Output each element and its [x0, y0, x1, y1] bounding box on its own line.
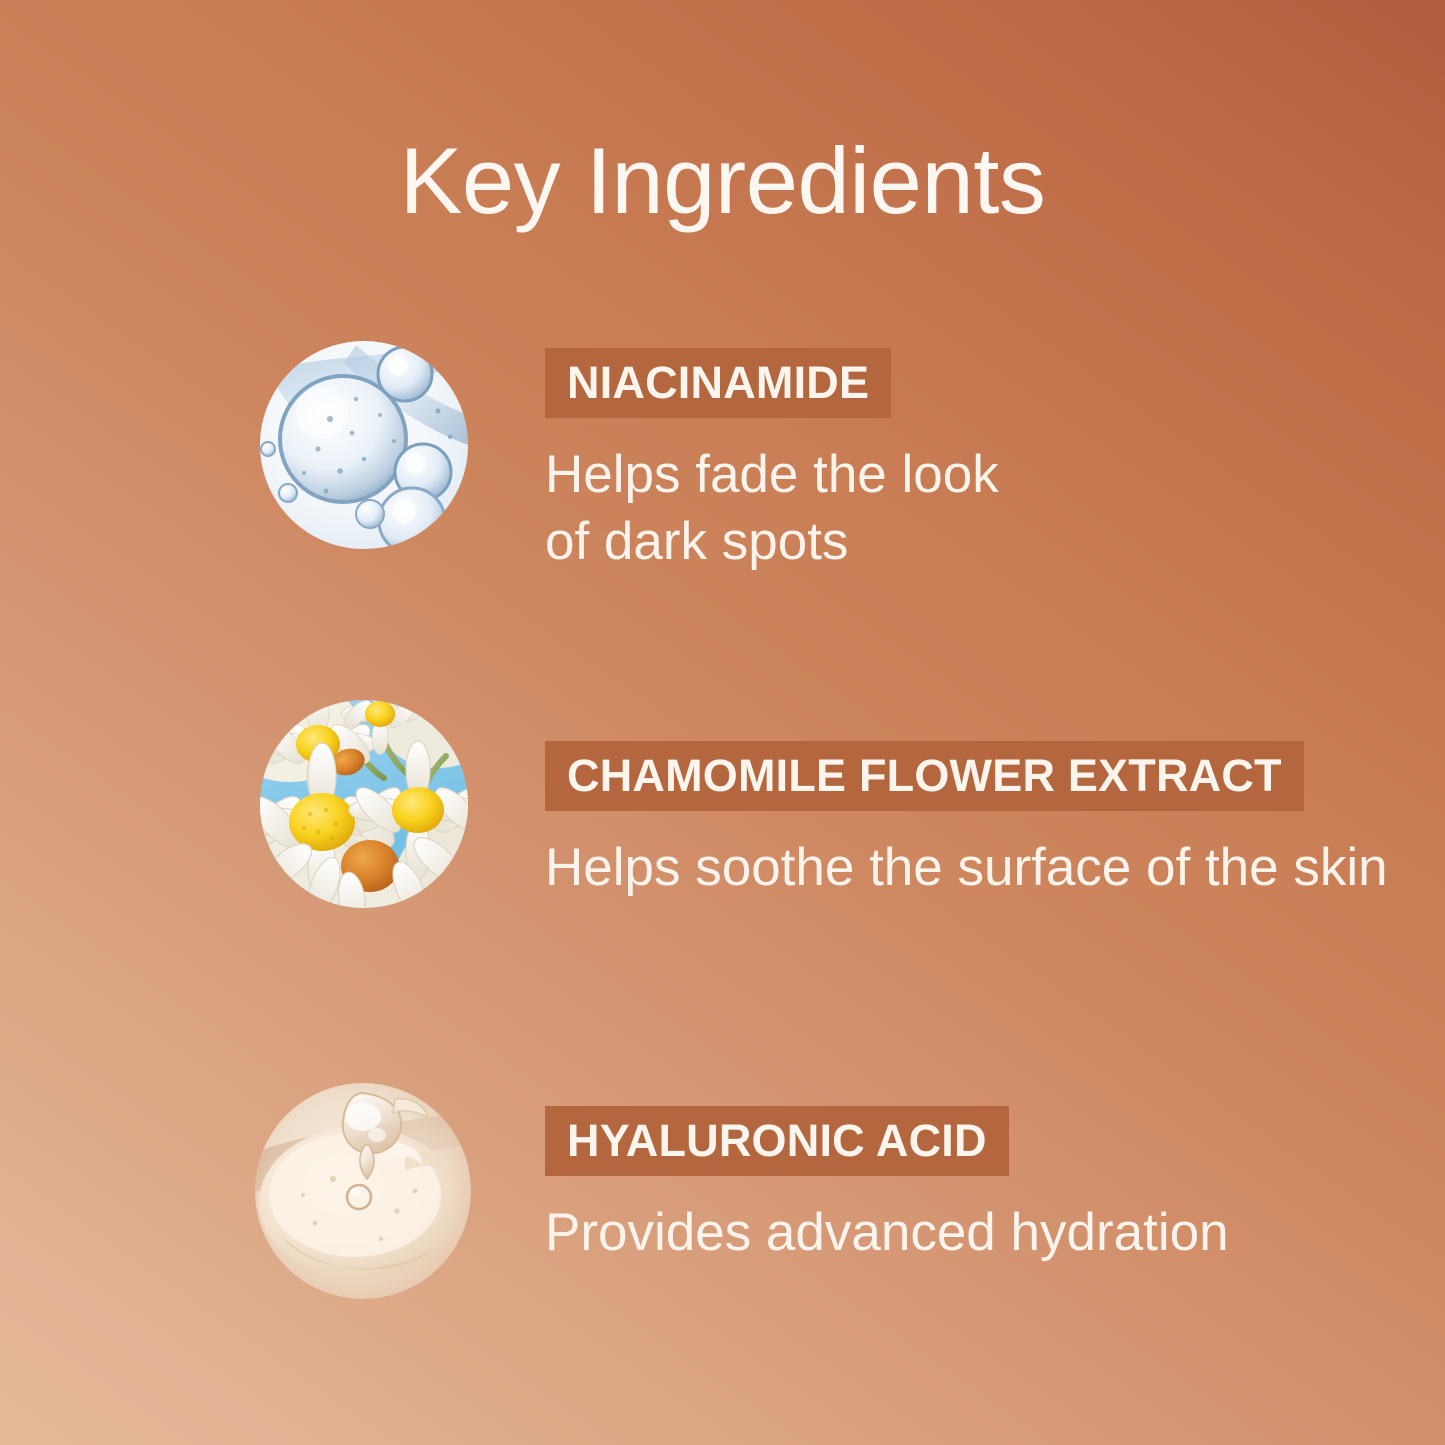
ingredient-name-badge: NIACINAMIDE — [545, 348, 891, 418]
ingredient-copy: HYALURONIC ACID Provides advanced hydrat… — [545, 1106, 1229, 1267]
ingredient-copy: NIACINAMIDE Helps fade the look of dark … — [545, 348, 999, 576]
key-ingredients-infographic: Key Ingredients — [0, 0, 1445, 1445]
ingredient-description: Helps fade the look of dark spots — [545, 442, 999, 576]
ingredient-copy: CHAMOMILE FLOWER EXTRACT Helps soothe th… — [545, 741, 1388, 902]
page-title: Key Ingredients — [0, 131, 1445, 231]
ingredient-description: Helps soothe the surface of the skin — [545, 835, 1388, 902]
serum-droplet-icon — [255, 1083, 471, 1299]
ingredient-name-badge: HYALURONIC ACID — [545, 1106, 1009, 1176]
ingredient-name-badge: CHAMOMILE FLOWER EXTRACT — [545, 741, 1304, 811]
ingredient-description: Provides advanced hydration — [545, 1200, 1229, 1267]
chamomile-flowers-icon — [260, 700, 468, 908]
water-bubbles-icon — [260, 341, 468, 549]
